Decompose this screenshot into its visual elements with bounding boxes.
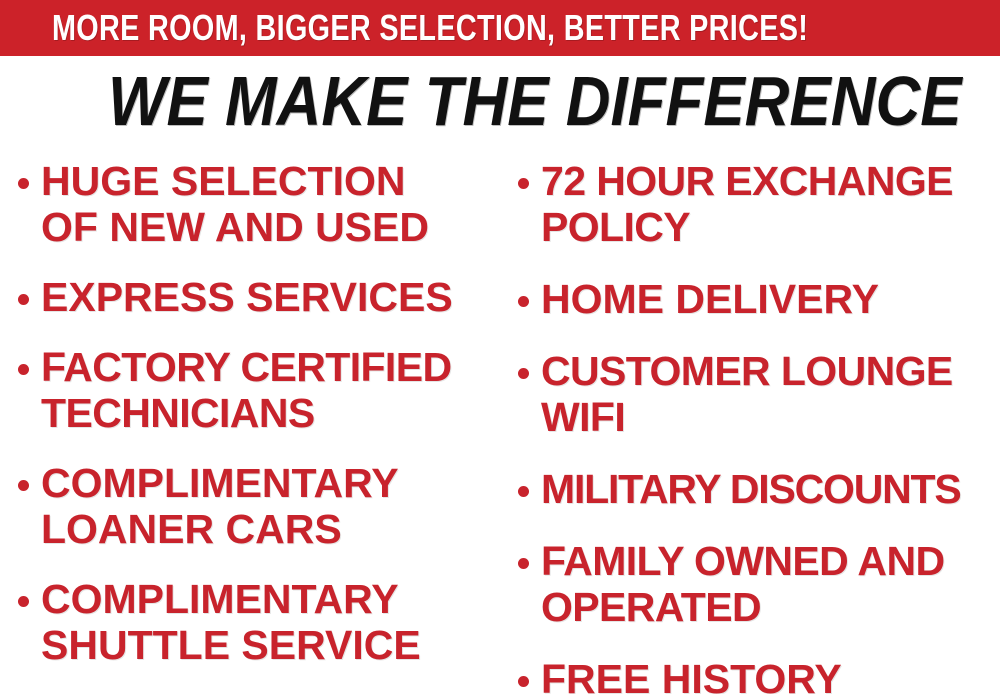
list-item: FREE HISTORY REPORTS [518, 656, 1000, 694]
list-item: FAMILY OWNED AND OPERATED [518, 538, 1000, 630]
bullet-dot-icon [18, 596, 29, 607]
bullet-dot-icon [518, 676, 529, 687]
benefit-label: FAMILY OWNED AND OPERATED [541, 538, 944, 630]
benefit-label: FREE HISTORY REPORTS [541, 656, 842, 694]
list-item: EXPRESS SERVICES [18, 274, 500, 320]
bullet-dot-icon [18, 364, 29, 375]
bullet-dot-icon [18, 294, 29, 305]
benefit-label: FACTORY CERTIFIED TECHNICIANS [41, 344, 451, 436]
bullet-dot-icon [18, 480, 29, 491]
advertisement-banner: MORE ROOM, BIGGER SELECTION, BETTER PRIC… [0, 0, 1000, 694]
benefit-label: COMPLIMENTARY SHUTTLE SERVICE [41, 576, 421, 668]
promo-banner-text: MORE ROOM, BIGGER SELECTION, BETTER PRIC… [52, 10, 808, 46]
bullet-dot-icon [518, 486, 529, 497]
bullet-dot-icon [518, 558, 529, 569]
list-item: 72 HOUR EXCHANGE POLICY [518, 158, 1000, 250]
bullet-dot-icon [518, 296, 529, 307]
benefits-column-left: HUGE SELECTION OF NEW AND USED EXPRESS S… [0, 158, 500, 694]
list-item: CUSTOMER LOUNGE WIFI [518, 348, 1000, 440]
top-promo-banner: MORE ROOM, BIGGER SELECTION, BETTER PRIC… [0, 0, 1000, 56]
benefit-label: 72 HOUR EXCHANGE POLICY [541, 158, 953, 250]
benefit-label: HOME DELIVERY [541, 276, 879, 322]
benefit-label: COMPLIMENTARY LOANER CARS [41, 460, 399, 552]
bullet-dot-icon [518, 178, 529, 189]
list-item: FACTORY CERTIFIED TECHNICIANS [18, 344, 500, 436]
benefit-label: HUGE SELECTION OF NEW AND USED [41, 158, 429, 250]
benefit-label: EXPRESS SERVICES [41, 274, 453, 320]
benefit-label: CUSTOMER LOUNGE WIFI [541, 348, 953, 440]
list-item: HUGE SELECTION OF NEW AND USED [18, 158, 500, 250]
list-item: HOME DELIVERY [518, 276, 1000, 322]
headline-title: WE MAKE THE DIFFERENCE [108, 66, 816, 138]
list-item: COMPLIMENTARY LOANER CARS [18, 460, 500, 552]
benefits-columns: HUGE SELECTION OF NEW AND USED EXPRESS S… [0, 158, 1000, 694]
benefits-column-right: 72 HOUR EXCHANGE POLICY HOME DELIVERY CU… [500, 158, 1000, 694]
bullet-dot-icon [18, 178, 29, 189]
bullet-dot-icon [518, 368, 529, 379]
list-item: COMPLIMENTARY SHUTTLE SERVICE [18, 576, 500, 668]
benefit-label: MILITARY DISCOUNTS [541, 466, 961, 512]
list-item: MILITARY DISCOUNTS [518, 466, 1000, 512]
